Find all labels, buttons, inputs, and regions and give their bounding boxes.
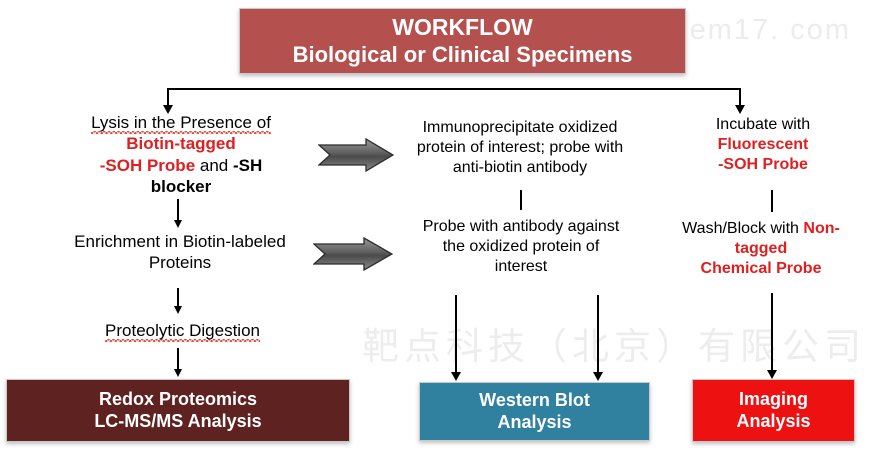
right-step-2-text: Wash/Block with Non- tagged Chemical Pro…: [660, 219, 862, 279]
arrow-down-icon: [174, 369, 182, 377]
middle-connector-right: [597, 295, 599, 375]
watermark-chinese: 靶点科技（北京）有限公司: [362, 316, 866, 370]
right-connector-2: [771, 293, 773, 373]
result-wb-line-2: Analysis: [479, 412, 590, 433]
right-step-1-red-1: Fluorescent: [718, 136, 809, 153]
middle-step-1-line-2: protein of interest; probe with: [389, 138, 651, 158]
grey-block-arrow-right-2-icon: [313, 237, 393, 271]
header-subtitle: Biological or Clinical Specimens: [293, 42, 633, 68]
right-step-2-red-1: Non-: [803, 220, 839, 237]
right-step-2-red-3: Chemical Probe: [701, 260, 822, 277]
middle-step-2-line-1: Probe with antibody against: [392, 217, 650, 237]
middle-step-2-text: Probe with antibody against the oxidized…: [392, 217, 650, 277]
bus-horizontal-line: [167, 88, 741, 90]
left-step-1-and: and: [195, 156, 233, 175]
left-step-2-line-2: Proteins: [45, 252, 315, 273]
arrow-down-icon: [593, 372, 603, 381]
result-box-western-blot: Western Blot Analysis: [419, 382, 650, 441]
left-step-1-line-1: Lysis in the Presence of: [91, 113, 271, 134]
arrow-down-icon: [767, 370, 777, 379]
left-step-1-bold-1: -SH: [233, 156, 262, 175]
result-redox-line-2: LC-MS/MS Analysis: [94, 411, 261, 432]
right-connector-1: [771, 190, 773, 212]
result-box-imaging: Imaging Analysis: [692, 379, 855, 442]
header-title: WORKFLOW: [293, 14, 633, 41]
result-img-line-1: Imaging: [736, 389, 810, 410]
left-step-2-line-1: Enrichment in Biotin-labeled: [45, 231, 315, 252]
right-step-1-text: Incubate with Fluorescent -SOH Probe: [667, 115, 859, 175]
middle-step-2-line-2: the oxidized protein of: [392, 237, 650, 257]
left-step-3-text: Proteolytic Digestion: [60, 320, 305, 341]
right-step-1-line-1: Incubate with: [667, 115, 859, 135]
workflow-diagram: chem17. com 靶点科技（北京）有限公司 WORKFLOW Biolog…: [0, 0, 869, 458]
right-step-2-line-1: Wash/Block with: [682, 220, 803, 237]
left-step-2-text: Enrichment in Biotin-labeled Proteins: [45, 231, 315, 274]
left-step-3-line-1: Proteolytic Digestion: [105, 321, 260, 342]
left-step-1-text: Lysis in the Presence of Biotin-tagged -…: [56, 112, 306, 198]
left-step-1-red-1: Biotin-tagged: [126, 134, 236, 153]
grey-block-arrow-right-1-icon: [318, 138, 394, 172]
header-box: WORKFLOW Biological or Clinical Specimen…: [239, 8, 686, 74]
arrow-down-to-incubate-icon: [735, 105, 745, 114]
left-step-1-red-2: -SOH Probe: [100, 156, 195, 175]
right-step-2-red-2: tagged: [735, 240, 787, 257]
result-box-redox-proteomics: Redox Proteomics LC-MS/MS Analysis: [6, 379, 350, 442]
arrow-down-icon: [174, 306, 182, 314]
middle-connector-left: [455, 295, 457, 375]
result-wb-line-1: Western Blot: [479, 390, 590, 411]
arrow-down-icon: [174, 220, 182, 228]
right-step-1-red-2: -SOH Probe: [718, 156, 808, 173]
arrow-down-icon: [451, 372, 461, 381]
middle-step-1-text: Immunoprecipitate oxidized protein of in…: [389, 118, 651, 178]
left-step-1-bold-2: blocker: [151, 177, 211, 196]
middle-step-1-line-1: Immunoprecipitate oxidized: [389, 118, 651, 138]
result-img-line-2: Analysis: [736, 411, 810, 432]
middle-step-2-line-3: interest: [392, 257, 650, 277]
result-redox-line-1: Redox Proteomics: [94, 389, 261, 410]
middle-connector-1: [520, 190, 522, 210]
middle-step-1-line-3: anti-biotin antibody: [389, 158, 651, 178]
